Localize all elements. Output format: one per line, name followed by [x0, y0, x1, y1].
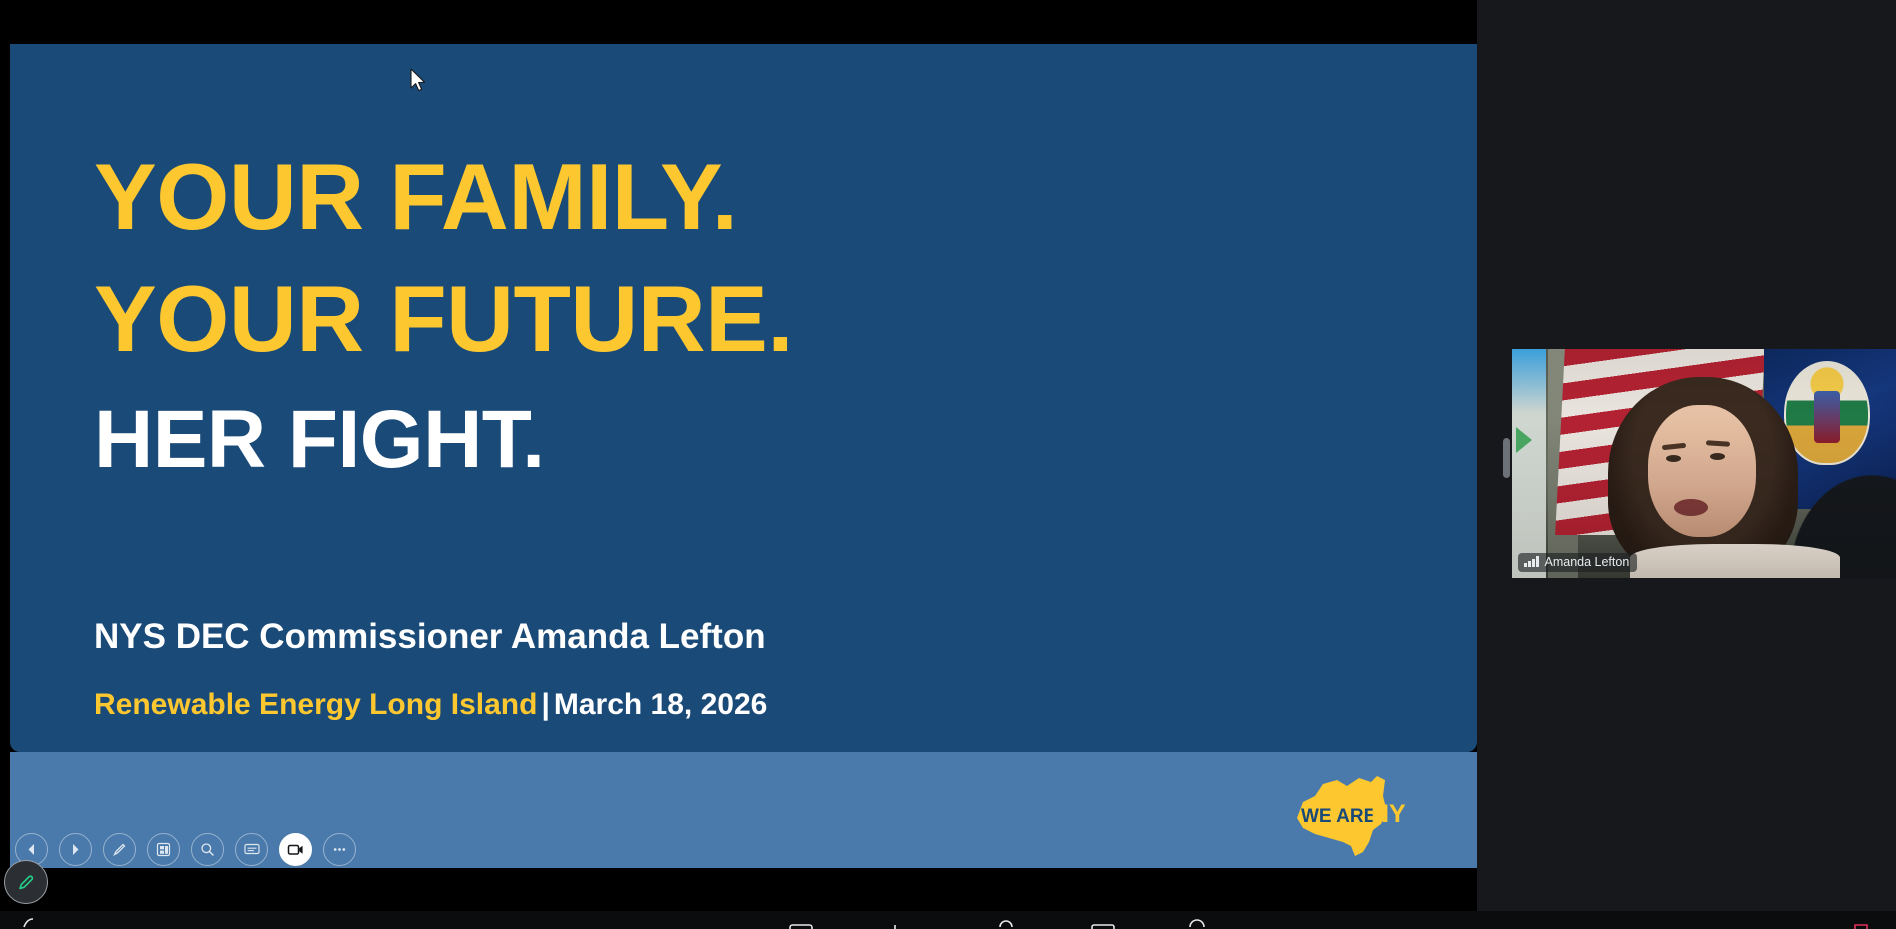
layout-icon: [155, 841, 172, 858]
caret-left-icon: [25, 843, 38, 856]
slide-event-date: March 18, 2026: [554, 688, 767, 721]
we-are-ny-logo: WE ARE NY: [1289, 772, 1421, 858]
leave-icon: [1855, 925, 1867, 929]
slide-headline-line-3: HER FIGHT.: [94, 399, 545, 481]
screen-share-window: Amanda Lefton YOUR FAMILY. YOUR FUTURE. …: [0, 0, 1896, 929]
logo-we-are-text: WE ARE: [1301, 806, 1376, 827]
layout-view-button[interactable]: [147, 833, 180, 866]
shared-content-area: YOUR FAMILY. YOUR FUTURE. HER FIGHT. NYS…: [0, 0, 1477, 929]
reactions-icon: [1190, 920, 1204, 927]
presentation-slide: YOUR FAMILY. YOUR FUTURE. HER FIGHT. NYS…: [10, 44, 1477, 868]
slide-headline-line-1: YOUR FAMILY.: [94, 150, 737, 244]
microphone-icon: [24, 919, 33, 927]
logo-ny-text: NY: [1371, 800, 1406, 828]
presenter-notes-button[interactable]: [235, 833, 268, 866]
slide-presenter-name: NYS DEC Commissioner Amanda Lefton: [94, 617, 766, 657]
meeting-control-bar: [0, 911, 1896, 929]
zoom-tool-button[interactable]: [191, 833, 224, 866]
pen-icon: [111, 841, 128, 858]
participant-name-badge: Amanda Lefton: [1518, 553, 1637, 573]
share-screen-icon: [1092, 925, 1114, 929]
signal-bars-icon: [1524, 556, 1539, 567]
slide-headline-line-2: YOUR FUTURE.: [94, 272, 793, 366]
next-slide-button[interactable]: [59, 833, 92, 866]
participant-name-label: Amanda Lefton: [1545, 556, 1630, 569]
more-options-button[interactable]: [323, 833, 356, 866]
slide-body: YOUR FAMILY. YOUR FUTURE. HER FIGHT. NYS…: [10, 44, 1477, 752]
chat-icon: [1000, 921, 1012, 927]
annotate-button[interactable]: [4, 860, 48, 904]
pencil-icon: [15, 871, 37, 893]
video-panel-scrollbar[interactable]: [1503, 438, 1510, 478]
magnifier-icon: [199, 841, 216, 858]
caret-right-icon: [69, 843, 82, 856]
presentation-toolbar: [10, 828, 356, 870]
slide-event-name: Renewable Energy Long Island: [94, 688, 537, 721]
participant-video-tile[interactable]: Amanda Lefton: [1512, 349, 1896, 578]
meeting-control-icons: [0, 911, 1896, 929]
ellipsis-icon: [331, 841, 348, 858]
video-vignette: [1512, 349, 1896, 578]
slide-event-line: Renewable Energy Long Island|March 18, 2…: [94, 688, 767, 722]
slide-event-separator: |: [537, 688, 553, 721]
video-toggle-button[interactable]: [279, 833, 312, 866]
camera-icon: [790, 925, 812, 929]
video-camera-icon: [286, 840, 305, 859]
notes-icon: [243, 840, 261, 858]
pen-tool-button[interactable]: [103, 833, 136, 866]
